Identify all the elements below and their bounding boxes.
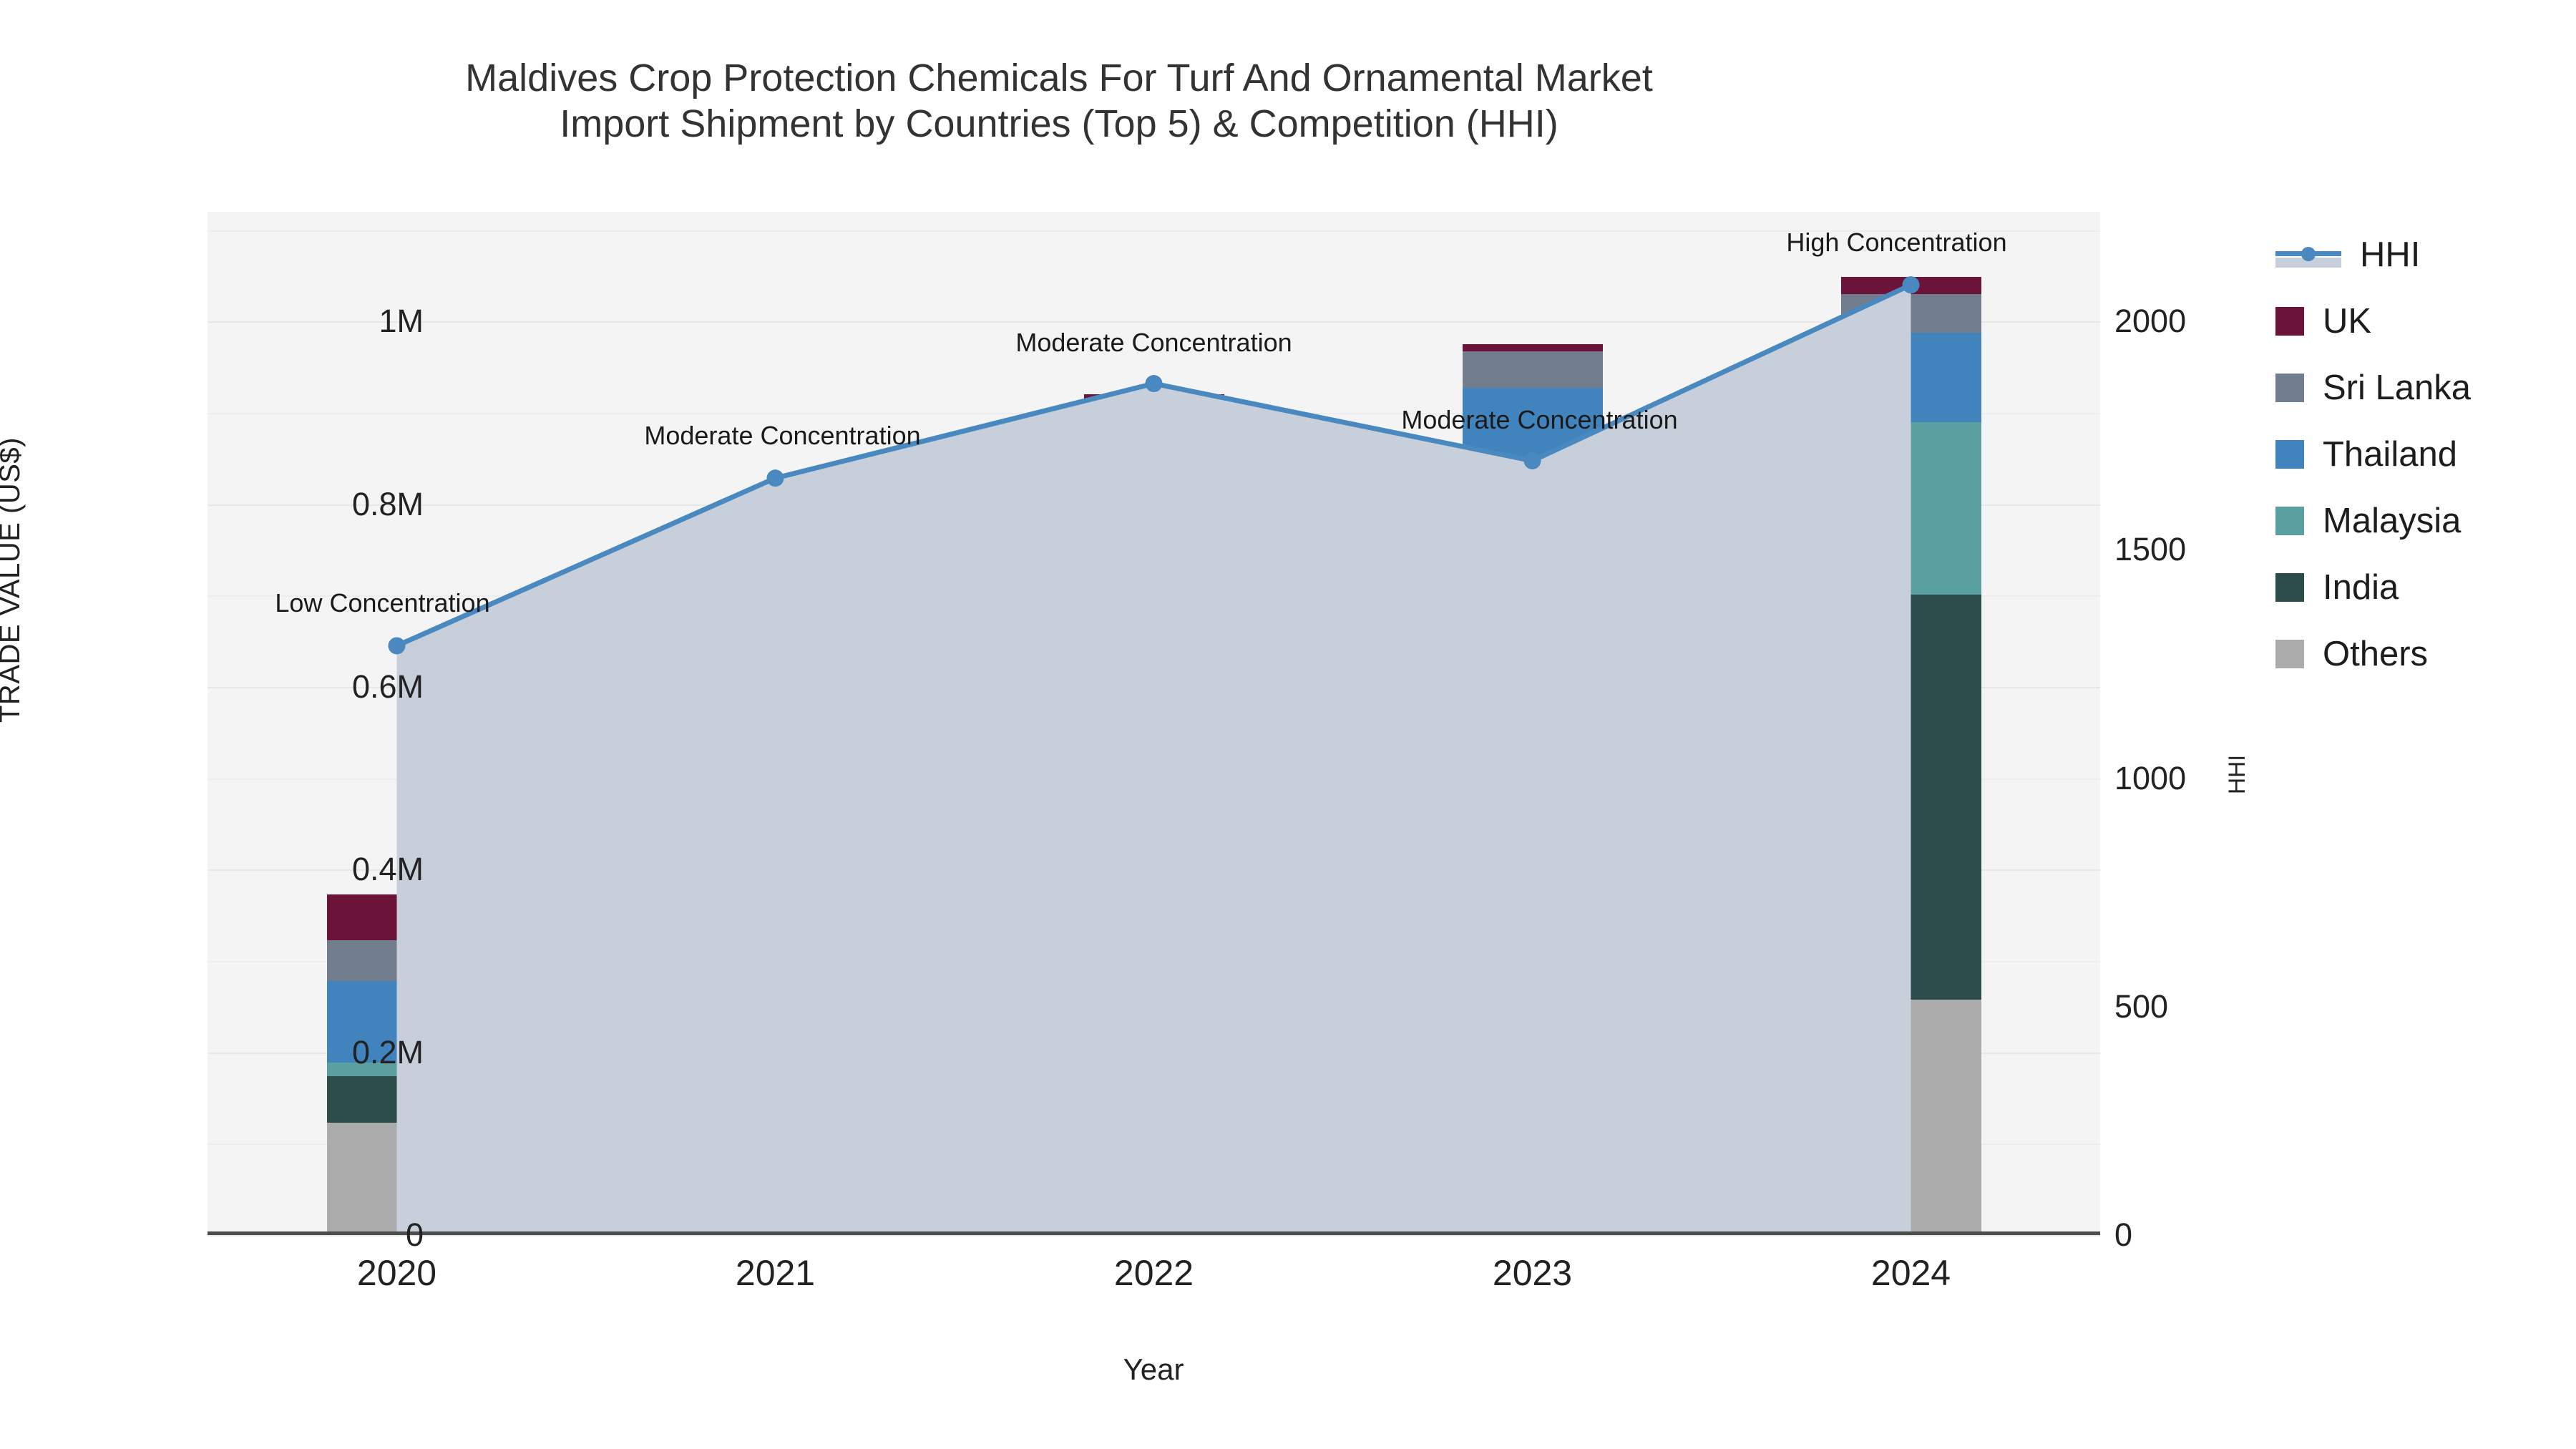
y-tick-left: 0.6M [352, 668, 424, 706]
x-tick-2023: 2023 [1493, 1252, 1572, 1294]
legend-swatch-icon [2275, 307, 2304, 336]
y-tick-left: 0.8M [352, 486, 424, 523]
x-axis-baseline [208, 1231, 2100, 1235]
legend-item-label: Thailand [2323, 434, 2457, 474]
hhi-marker-2024[interactable] [1903, 276, 1920, 293]
legend-item-label: Others [2323, 634, 2428, 674]
legend-item-others[interactable]: Others [2275, 635, 2471, 673]
hhi-marker-2021[interactable] [767, 469, 784, 487]
legend-item-label: Malaysia [2323, 501, 2461, 541]
plot-area [208, 212, 2100, 1235]
y-tick-right: 500 [2114, 988, 2168, 1025]
y-axis-left-label: TRADE VALUE (US$) [0, 437, 26, 723]
legend-swatch-icon [2275, 440, 2304, 469]
hhi-marker-2020[interactable] [389, 637, 406, 654]
legend-item-uk[interactable]: UK [2275, 303, 2471, 340]
chart-title: Maldives Crop Protection Chemicals For T… [0, 56, 2118, 147]
legend-item-sri-lanka[interactable]: Sri Lanka [2275, 369, 2471, 406]
hhi-annotation-2023: Moderate Concentration [1401, 405, 1677, 435]
y-tick-left: 0.4M [352, 851, 424, 888]
legend-line-icon [2275, 240, 2341, 269]
y-tick-right: 0 [2114, 1216, 2132, 1254]
chart-title-line-2: Import Shipment by Countries (Top 5) & C… [0, 102, 2118, 147]
legend-swatch-icon [2275, 640, 2304, 668]
hhi-overlay [208, 212, 2100, 1235]
x-tick-2024: 2024 [1871, 1252, 1951, 1294]
y-tick-left: 1M [379, 303, 424, 340]
y-tick-right: 1000 [2114, 760, 2186, 797]
hhi-marker-2023[interactable] [1524, 452, 1541, 469]
hhi-marker-2022[interactable] [1146, 375, 1163, 392]
legend-item-label: Sri Lanka [2323, 368, 2471, 408]
hhi-annotation-2024: High Concentration [1786, 228, 2006, 258]
legend-item-label: HHI [2360, 235, 2420, 275]
legend-item-india[interactable]: India [2275, 569, 2471, 606]
chart-legend: HHIUKSri LankaThailandMalaysiaIndiaOther… [2275, 236, 2471, 673]
y-tick-left: 0.2M [352, 1034, 424, 1071]
hhi-annotation-2022: Moderate Concentration [1015, 328, 1292, 358]
y-tick-left: 0 [406, 1216, 424, 1254]
legend-swatch-icon [2275, 573, 2304, 602]
legend-swatch-icon [2275, 374, 2304, 402]
chart-figure: Maldives Crop Protection Chemicals For T… [0, 0, 2576, 1449]
legend-item-label: India [2323, 567, 2399, 608]
x-axis-label: Year [1123, 1352, 1184, 1387]
gridline [208, 1235, 2100, 1236]
legend-item-label: UK [2323, 301, 2371, 341]
x-tick-2021: 2021 [736, 1252, 815, 1294]
y-tick-right: 2000 [2114, 303, 2186, 340]
y-tick-right: 1500 [2114, 531, 2186, 568]
legend-item-malaysia[interactable]: Malaysia [2275, 502, 2471, 540]
legend-item-thailand[interactable]: Thailand [2275, 436, 2471, 473]
x-tick-2022: 2022 [1114, 1252, 1194, 1294]
hhi-area-fill [397, 285, 1911, 1235]
y-axis-right-label: HHI [2224, 755, 2250, 794]
hhi-annotation-2021: Moderate Concentration [644, 421, 920, 451]
chart-title-line-1: Maldives Crop Protection Chemicals For T… [0, 56, 2118, 102]
legend-item-hhi[interactable]: HHI [2275, 236, 2471, 273]
hhi-annotation-2020: Low Concentration [275, 588, 489, 618]
x-tick-2020: 2020 [357, 1252, 436, 1294]
legend-swatch-icon [2275, 507, 2304, 535]
